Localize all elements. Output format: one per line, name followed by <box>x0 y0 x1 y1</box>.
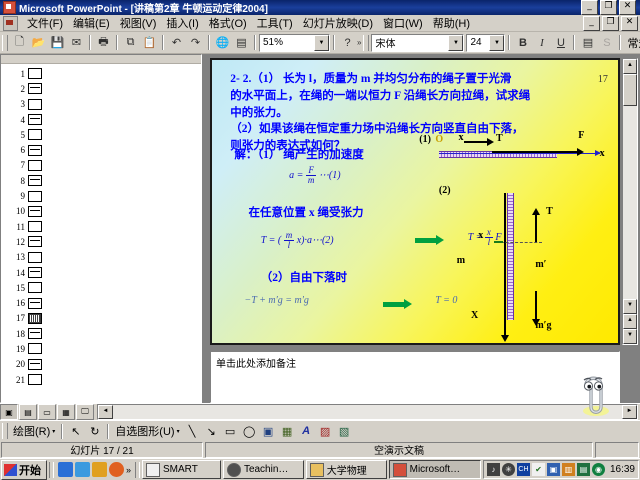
mail-icon[interactable]: ✉ <box>67 34 86 52</box>
eq2-mid: x)·a⋯(2) <box>297 235 334 246</box>
checkmark-icon[interactable]: ✔ <box>532 463 545 476</box>
slide-thumbnail-icon[interactable] <box>28 221 42 232</box>
task-smart-label: SMART <box>163 464 198 475</box>
doc-restore-button[interactable]: ❐ <box>602 16 619 31</box>
autoshapes-menu-button[interactable]: 自选图形(U) ▾ <box>112 422 182 440</box>
zoom-value: 51% <box>263 37 314 48</box>
diagram-label-F: F <box>578 130 584 141</box>
outline-row-12[interactable]: 12 <box>9 234 201 249</box>
document-control-icon[interactable] <box>3 16 18 31</box>
draw-menu-button[interactable]: 绘图(R) ▾ <box>10 422 58 440</box>
undo-icon[interactable]: ↶ <box>167 34 186 52</box>
outline-row-4[interactable]: 4 <box>9 112 201 127</box>
diagram-label-mg: m′g <box>535 320 551 331</box>
toolbar-separator-1 <box>89 35 91 50</box>
scroll-right-icon[interactable]: ► <box>622 405 637 419</box>
print-icon[interactable]: 🖶 <box>94 34 113 52</box>
slide-thumbnail-icon[interactable] <box>28 252 42 263</box>
folder-icon <box>310 463 324 477</box>
paste-icon[interactable]: 📋 <box>140 34 159 52</box>
font-size-chevron-down-icon[interactable]: ▼ <box>489 35 504 51</box>
question-line-2: 的水平面上，在绳的一端以恒力 F 沿绳长方向拉绳，试求绳 <box>230 88 583 105</box>
menu-insert[interactable]: 插入(I) <box>161 14 203 32</box>
outline-num: 20 <box>9 359 25 369</box>
ime-icon[interactable]: CH <box>517 463 530 476</box>
diagram-label-part2: (2) <box>439 185 451 196</box>
free-rotate-icon[interactable]: ↻ <box>85 423 104 440</box>
save-icon[interactable]: 💾 <box>48 34 67 52</box>
slide-thumbnail-icon[interactable] <box>28 99 42 110</box>
equation-3: −T + m′g = m′g <box>244 295 308 306</box>
outline-num: 3 <box>9 99 25 109</box>
window-controls: _ ❐ ✕ <box>581 0 638 15</box>
task-powerpoint[interactable]: Microsoft… <box>389 460 481 479</box>
oval-icon[interactable]: ◯ <box>240 423 259 440</box>
table-icon[interactable]: ▤ <box>232 34 251 52</box>
weight-arrow-vertical <box>535 291 537 320</box>
redo-icon[interactable]: ↷ <box>186 34 205 52</box>
help-icon[interactable]: ? <box>338 34 357 52</box>
zoom-chevron-down-icon[interactable]: ▼ <box>314 35 329 51</box>
toolbar-separator-6 <box>333 35 335 50</box>
teaching-icon <box>227 463 241 477</box>
system-tray: ♪ ✳ CH ✔ ▣ ▥ ▤ ◉ 16:39 <box>483 460 639 479</box>
menu-window[interactable]: 窗口(W) <box>378 14 428 32</box>
outline-slide-list: 1 2 3 4 5 6 7 8 9 10 11 12 13 14 15 16 1… <box>1 64 201 387</box>
outline-num: 14 <box>9 268 25 278</box>
powerpoint-app-icon[interactable] <box>3 1 16 14</box>
drawing-separator-1 <box>61 424 63 439</box>
new-icon[interactable]: 🗋 <box>10 34 29 52</box>
green-icon[interactable]: ▤ <box>577 463 590 476</box>
standard-toolbar-overflow-icon[interactable]: » <box>357 39 361 46</box>
task-wuli-label: 大学物理 <box>327 462 367 477</box>
eq1-fraction: F m <box>306 166 317 185</box>
slide-pane: 17 2- 2.（1） 长为 l，质量为 m 并均匀分布的绳子置于光滑 的水平面… <box>202 54 640 403</box>
select-objects-icon[interactable]: ↖ <box>66 423 85 440</box>
outline-row-15[interactable]: 15 <box>9 280 201 295</box>
task-wuli[interactable]: 大学物理 <box>306 460 387 479</box>
quick-launch-overflow-icon[interactable]: » <box>126 465 131 475</box>
windows-taskbar: 开始 » SMART Teachin… 大学物理 Microsoft… ♪ <box>0 458 640 480</box>
diagram-label-m-prime: m′ <box>535 259 546 270</box>
outline-row-14[interactable]: 14 <box>9 265 201 280</box>
diagram-label-x-small: x <box>459 132 464 143</box>
notes-pane[interactable]: 单击此处添加备注 <box>210 351 620 403</box>
eq1-lead: a = <box>289 170 303 181</box>
outline-num: 8 <box>9 176 25 186</box>
doc-minimize-button[interactable]: _ <box>583 16 600 31</box>
slide-thumbnail-icon[interactable] <box>28 206 42 217</box>
font-size-combo[interactable]: 24 ▼ <box>466 34 505 52</box>
common-tasks-label: 常规任务(C) <box>627 35 640 51</box>
outline-num: 9 <box>9 191 25 201</box>
status-bar: 幻灯片 17 / 21 空演示文稿 <box>0 441 640 458</box>
network-icon[interactable]: ✳ <box>502 463 515 476</box>
outline-num: 2 <box>9 84 25 94</box>
taskbar-separator-1 <box>49 462 54 478</box>
view-bar: ▣ ▤ ▭ ▦ 🖵 ◄ ► <box>0 403 640 420</box>
document-window-controls: _ ❐ ✕ <box>583 16 640 31</box>
status-extra-panel <box>595 442 639 458</box>
menu-view[interactable]: 视图(V) <box>115 14 162 32</box>
media-player-icon[interactable] <box>109 462 124 477</box>
eq1-denominator: m <box>306 176 317 185</box>
solution-heading-1: 解：（1） 绳产生的加速度 <box>234 146 363 162</box>
copy-icon[interactable]: ⧉ <box>121 34 140 52</box>
outline-num: 15 <box>9 283 25 293</box>
slide-thumbnail-icon[interactable] <box>28 267 42 278</box>
outline-num: 5 <box>9 130 25 140</box>
outline-row-17[interactable]: 17 <box>9 311 201 326</box>
diagram-label-x-vertical: x <box>478 230 483 241</box>
zoom-combo[interactable]: 51% ▼ <box>259 34 330 52</box>
wordart-icon[interactable]: ▦ <box>278 423 297 440</box>
font-combo[interactable]: 宋体 ▼ <box>371 34 464 52</box>
insert-clipart-icon[interactable]: ▨ <box>316 423 335 440</box>
slide-thumbnail-icon[interactable] <box>28 236 42 247</box>
next-slide-icon[interactable]: ▼ <box>623 329 637 344</box>
start-button[interactable]: 开始 <box>1 460 47 480</box>
outline-pane[interactable]: 1 2 3 4 5 6 7 8 9 10 11 12 13 14 15 16 1… <box>0 54 202 403</box>
windows-flag-icon <box>4 464 17 476</box>
doc-close-button[interactable]: ✕ <box>621 16 638 31</box>
slide-thumbnail-icon[interactable] <box>28 359 42 370</box>
minimize-button[interactable]: _ <box>581 0 598 15</box>
slide-thumbnail-icon[interactable] <box>28 114 42 125</box>
eq2-denominator: l <box>284 241 295 250</box>
outline-row-6[interactable]: 6 <box>9 142 201 157</box>
outline-pane-top-strip <box>1 55 201 64</box>
notes-placeholder: 单击此处添加备注 <box>211 352 619 373</box>
quick-launch-bar: » <box>56 462 133 477</box>
taskbar-separator-2 <box>135 462 140 478</box>
outline-row-9[interactable]: 9 <box>9 188 201 203</box>
outline-row-8[interactable]: 8 <box>9 173 201 188</box>
slide-canvas[interactable]: 17 2- 2.（1） 长为 l，质量为 m 并均匀分布的绳子置于光滑 的水平面… <box>210 58 620 345</box>
outline-row-5[interactable]: 5 <box>9 127 201 142</box>
outline-row-19[interactable]: 19 <box>9 341 201 356</box>
equation-2: T = ( m l x)·a⋯(2) <box>261 231 334 250</box>
slide-thumbnail-icon[interactable] <box>28 129 42 140</box>
arrow-icon[interactable]: ↘ <box>202 423 221 440</box>
autoshapes-chevron-down-icon: ▾ <box>177 428 180 435</box>
ie-icon[interactable] <box>58 462 73 477</box>
toolbar-separator-3 <box>162 35 164 50</box>
vertical-rope <box>507 193 514 319</box>
window-title: Microsoft PowerPoint - [讲稿第2章 牛顿运动定律2004… <box>19 0 268 15</box>
slide-show-button[interactable]: 🖵 <box>76 404 94 420</box>
drawing-toolbar-grip[interactable] <box>2 423 8 439</box>
font-value: 宋体 <box>375 35 448 50</box>
outline-row-1[interactable]: 1 <box>9 66 201 81</box>
menu-format[interactable]: 格式(O) <box>204 14 252 32</box>
slide-canvas-area: 17 2- 2.（1） 长为 l，质量为 m 并均匀分布的绳子置于光滑 的水平面… <box>202 54 640 349</box>
outline-num: 1 <box>9 69 25 79</box>
slide-thumbnail-icon[interactable] <box>28 191 42 202</box>
outline-row-2[interactable]: 2 <box>9 81 201 96</box>
insert-wordart-icon[interactable]: A <box>297 423 316 440</box>
slide-thumbnail-icon[interactable] <box>28 160 42 171</box>
title-bar: Microsoft PowerPoint - [讲稿第2章 牛顿运动定律2004… <box>0 0 640 15</box>
outline-row-21[interactable]: 21 <box>9 372 201 387</box>
show-desktop-icon[interactable] <box>75 462 90 477</box>
powerpoint-taskbar-icon <box>393 463 407 477</box>
scroll-down-icon[interactable]: ▼ <box>623 299 637 314</box>
align-left-icon[interactable]: ▤ <box>578 34 597 52</box>
task-teaching[interactable]: Teachin… <box>223 460 304 479</box>
diagram-label-T-horizontal: T <box>496 133 503 144</box>
font-chevron-down-icon[interactable]: ▼ <box>448 35 463 51</box>
green-arrow-icon-1 <box>415 238 437 243</box>
outline-row-18[interactable]: 18 <box>9 326 201 341</box>
line-icon[interactable]: ╲ <box>183 423 202 440</box>
outline-view-button[interactable]: ▤ <box>19 404 37 420</box>
equation-1: a = F m ⋯(1) <box>289 166 340 185</box>
outline-num: 21 <box>9 375 25 385</box>
design-template-indicator: 空演示文稿 <box>205 442 593 458</box>
underline-button[interactable]: U <box>551 34 570 52</box>
outline-num: 10 <box>9 206 25 216</box>
slide-pane-scrollbar[interactable]: ▲ ▼ ▲ ▼ <box>622 58 638 345</box>
outline-num: 11 <box>9 222 25 232</box>
hyperlink-icon[interactable]: 🌐 <box>213 34 232 52</box>
question-line-1: 2- 2.（1） 长为 l，质量为 m 并均匀分布的绳子置于光滑 <box>230 71 583 88</box>
toolbar-separator-4 <box>208 35 210 50</box>
toolbar-separator-5 <box>254 35 256 50</box>
office-assistant-clippy[interactable] <box>574 371 614 417</box>
task-teaching-label: Teachin… <box>244 464 288 475</box>
diagram-label-part1: (1) <box>419 134 431 145</box>
outline-num: 16 <box>9 298 25 308</box>
slide-thumbnail-icon[interactable] <box>28 374 42 385</box>
slide-thumbnail-icon[interactable] <box>28 145 42 156</box>
previous-slide-icon[interactable]: ▲ <box>623 314 637 329</box>
force-F-arrow <box>492 151 581 153</box>
colorful-icon[interactable]: ▥ <box>562 463 575 476</box>
outline-row-13[interactable]: 13 <box>9 250 201 265</box>
diagram-label-X: X <box>471 310 478 321</box>
slide-thumbnail-icon[interactable] <box>28 83 42 94</box>
outline-num: 7 <box>9 160 25 170</box>
horizontal-scrollbar[interactable]: ◄ ► <box>97 404 638 420</box>
italic-button[interactable]: I <box>532 34 551 52</box>
menu-file[interactable]: 文件(F) <box>22 14 68 32</box>
scroll-up-icon[interactable]: ▲ <box>623 59 637 74</box>
outline-num: 6 <box>9 145 25 155</box>
task-smart[interactable]: SMART <box>142 460 221 479</box>
slide-thumbnail-icon[interactable] <box>28 328 42 339</box>
text-box-icon[interactable]: ▣ <box>259 423 278 440</box>
menu-bar: 文件(F) 编辑(E) 视图(V) 插入(I) 格式(O) 工具(T) 幻灯片放… <box>0 15 640 32</box>
slide-view-button[interactable]: ▭ <box>38 404 56 420</box>
diagram-label-axis-x: x <box>600 148 605 159</box>
outline-row-11[interactable]: 11 <box>9 219 201 234</box>
bold-button[interactable]: B <box>513 34 532 52</box>
slide-sorter-view-button[interactable]: ▦ <box>57 404 75 420</box>
draw-chevron-down-icon: ▾ <box>52 428 55 435</box>
toolbar-separator-2 <box>116 35 118 50</box>
toolbar-row: 🗋 📂 💾 ✉ 🖶 ⧉ 📋 ↶ ↷ 🌐 ▤ 51% ▼ ? » 宋体 ▼ 24 … <box>0 32 640 54</box>
fill-color-icon[interactable]: ▧ <box>335 423 354 440</box>
work-area: 1 2 3 4 5 6 7 8 9 10 11 12 13 14 15 16 1… <box>0 54 640 403</box>
slide-thumbnail-icon[interactable] <box>28 282 42 293</box>
slide-page-number: 17 <box>598 74 608 85</box>
question-line-3: 中的张力。 <box>230 105 583 122</box>
eq2-fraction: m l <box>284 231 295 250</box>
horizontal-axis <box>439 153 600 154</box>
menu-help[interactable]: 帮助(H) <box>428 14 475 32</box>
diagram-label-m: m <box>457 255 465 266</box>
eq1-tag: ⋯(1) <box>319 170 341 181</box>
open-icon[interactable]: 📂 <box>29 34 48 52</box>
menu-edit[interactable]: 编辑(E) <box>68 14 115 32</box>
menu-tools[interactable]: 工具(T) <box>252 14 298 32</box>
drawing-toolbar: 绘图(R) ▾ ↖ ↻ 自选图形(U) ▾ ╲ ↘ ▭ ◯ ▣ ▦ A ▨ ▧ <box>0 420 640 441</box>
physics-diagram: (1) O x T F x (2) <box>435 136 614 340</box>
tension-T-arrow-vertical <box>535 214 537 243</box>
outline-num: 18 <box>9 329 25 339</box>
volume-icon[interactable]: ♪ <box>487 463 500 476</box>
toolbar-separator-8 <box>573 35 575 50</box>
monitor-icon[interactable]: ▣ <box>547 463 560 476</box>
slide-indicator: 幻灯片 17 / 21 <box>1 442 203 458</box>
solution-heading-3: （2）自由下落时 <box>261 269 347 285</box>
taskbar-clock[interactable]: 16:39 <box>607 464 635 475</box>
outline-row-16[interactable]: 16 <box>9 295 201 310</box>
scrollbar-thumb[interactable] <box>623 74 637 106</box>
slide-thumbnail-icon[interactable] <box>28 68 42 79</box>
slide-thumbnail-icon[interactable] <box>28 298 42 309</box>
rectangle-icon[interactable]: ▭ <box>221 423 240 440</box>
autoshapes-label: 自选图形(U) <box>115 423 174 439</box>
toolbar-separator-7 <box>508 35 510 50</box>
outline-row-20[interactable]: 20 <box>9 357 201 372</box>
outlook-icon[interactable] <box>92 462 107 477</box>
toolbar-separator-9 <box>619 35 621 50</box>
diagram-label-T-vertical: T <box>546 206 553 217</box>
outline-row-7[interactable]: 7 <box>9 158 201 173</box>
menu-slideshow[interactable]: 幻灯片放映(D) <box>298 14 378 32</box>
slide-thumbnail-icon[interactable] <box>28 175 42 186</box>
outline-row-10[interactable]: 10 <box>9 204 201 219</box>
diagram-label-O: O <box>435 134 443 145</box>
scroll-left-icon[interactable]: ◄ <box>98 405 113 419</box>
outline-num: 13 <box>9 252 25 262</box>
task-powerpoint-label: Microsoft… <box>410 464 461 475</box>
formatting-toolbar-grip[interactable] <box>363 35 369 51</box>
standard-toolbar-grip[interactable] <box>2 35 8 51</box>
slide-thumbnail-icon[interactable] <box>28 343 42 354</box>
restore-button[interactable]: ❐ <box>600 0 617 15</box>
outline-num: 19 <box>9 344 25 354</box>
diagram-x-tick <box>494 241 503 243</box>
start-label: 开始 <box>19 462 41 478</box>
outline-num: 4 <box>9 115 25 125</box>
outline-num: 12 <box>9 237 25 247</box>
normal-view-button[interactable]: ▣ <box>0 404 18 420</box>
tension-T-arrow-horizontal <box>464 141 493 143</box>
close-button[interactable]: ✕ <box>619 0 636 15</box>
common-tasks-button[interactable]: 常规任务(C) ▼ <box>624 34 640 52</box>
font-size-value: 24 <box>470 37 489 48</box>
outline-num: 17 <box>9 313 25 323</box>
powerpoint-window: Microsoft PowerPoint - [讲稿第2章 牛顿运动定律2004… <box>0 0 640 480</box>
eq2-lead: T = ( <box>261 235 281 246</box>
scrollbar-track[interactable] <box>623 106 637 299</box>
shadow-icon[interactable]: S <box>597 34 616 52</box>
globe-icon[interactable]: ◉ <box>592 463 605 476</box>
drawing-separator-2 <box>107 424 109 439</box>
green-arrow-icon-2 <box>383 302 405 307</box>
outline-row-3[interactable]: 3 <box>9 97 201 112</box>
solution-heading-2: 在任意位置 x 绳受张力 <box>249 204 364 220</box>
slide-thumbnail-icon-selected[interactable] <box>28 313 42 324</box>
smart-icon <box>146 463 160 477</box>
draw-menu-label: 绘图(R) <box>13 423 50 439</box>
